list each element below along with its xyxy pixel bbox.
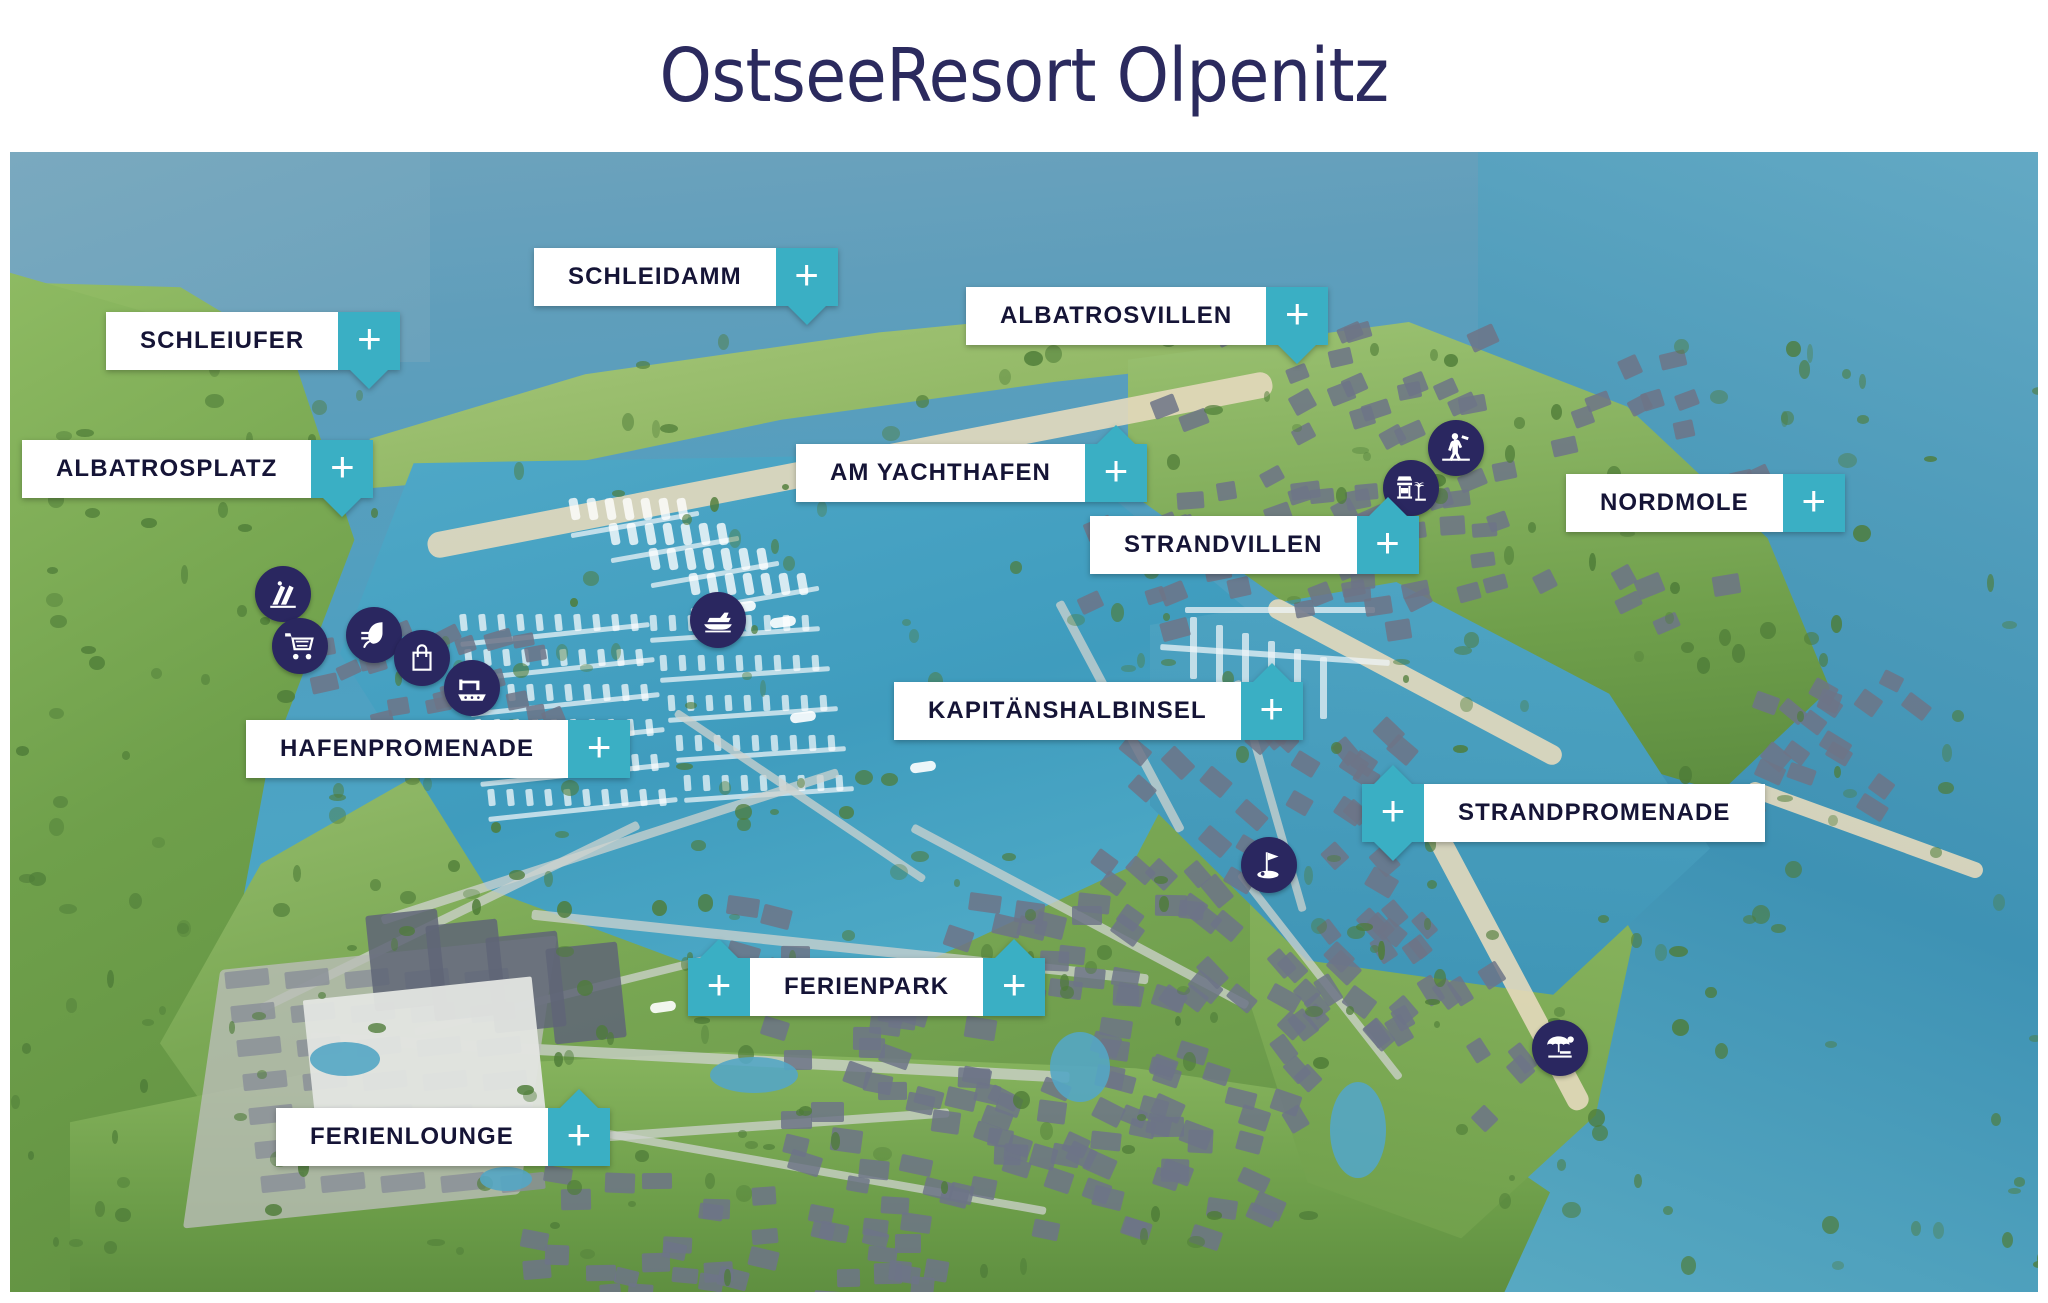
plus-icon: +	[1259, 688, 1284, 730]
plus-icon: +	[330, 446, 355, 488]
page-title: OstseeResort Olpenitz	[659, 33, 1388, 119]
hotspot-label-am-yachthafen: AM YACHTHAFEN	[796, 444, 1085, 502]
hotspot-label-strandvillen: STRANDVILLEN	[1090, 516, 1357, 574]
expand-button-schleiufer[interactable]: +	[338, 312, 400, 370]
water-slide-icon	[266, 577, 300, 611]
plus-icon: +	[1802, 480, 1827, 522]
expand-button-ferienlounge[interactable]: +	[548, 1108, 610, 1166]
shopping-cart-icon	[283, 629, 317, 663]
expand-button-nordmole[interactable]: +	[1783, 474, 1845, 532]
hotspot-label-albatrosvillen: ALBATROSVILLEN	[966, 287, 1266, 345]
hotspot-hafenpromenade[interactable]: HAFENPROMENADE+	[246, 720, 630, 778]
hotspot-nordmole[interactable]: NORDMOLE+	[1566, 474, 1845, 532]
expand-button-hafenpromenade[interactable]: +	[568, 720, 630, 778]
poi-marker-beach[interactable]	[1532, 1020, 1588, 1076]
plus-icon: +	[357, 318, 382, 360]
hotspot-schleiufer[interactable]: SCHLEIUFER+	[106, 312, 400, 370]
beach-umbrella-icon	[1543, 1031, 1577, 1065]
wellness-f-icon	[357, 618, 391, 652]
hotspot-am-yachthafen[interactable]: AM YACHTHAFEN+	[796, 444, 1147, 502]
expand-button-ferienpark-right[interactable]: +	[983, 958, 1045, 1016]
poi-marker-golf[interactable]	[1241, 837, 1297, 893]
poi-marker-shopping[interactable]	[394, 630, 450, 686]
hotspot-ferienlounge[interactable]: FERIENLOUNGE+	[276, 1108, 610, 1166]
stand-up-paddle-icon	[1439, 431, 1473, 465]
hotspot-label-hafenpromenade: HAFENPROMENADE	[246, 720, 568, 778]
expand-button-strandvillen[interactable]: +	[1357, 516, 1419, 574]
hotspot-ferienpark[interactable]: +FERIENPARK+	[688, 958, 1045, 1016]
plus-icon: +	[1002, 964, 1027, 1006]
hotspot-albatrosplatz[interactable]: ALBATROSPLATZ+	[22, 440, 373, 498]
map-aerial-image: SCHLEIDAMM+SCHLEIUFER+ALBATROSVILLEN+ALB…	[10, 152, 2038, 1292]
hotspot-strandvillen[interactable]: STRANDVILLEN+	[1090, 516, 1419, 574]
boat-slipway-icon	[455, 671, 489, 705]
motorboat-icon	[701, 603, 735, 637]
page-header: OstseeResort Olpenitz	[0, 0, 2048, 152]
expand-button-ferienpark-left[interactable]: +	[688, 958, 750, 1016]
hotspot-label-schleidamm: SCHLEIDAMM	[534, 248, 776, 306]
resort-map[interactable]: SCHLEIDAMM+SCHLEIUFER+ALBATROSVILLEN+ALB…	[10, 152, 2038, 1292]
hotspot-kapitaenshalbinsel[interactable]: KAPITÄNSHALBINSEL+	[894, 682, 1303, 740]
poi-marker-supermarket[interactable]	[272, 618, 328, 674]
plus-icon: +	[1381, 790, 1406, 832]
hotspot-label-ferienlounge: FERIENLOUNGE	[276, 1108, 548, 1166]
golf-flag-icon	[1252, 848, 1286, 882]
expand-button-am-yachthafen[interactable]: +	[1085, 444, 1147, 502]
poi-marker-paddleboard[interactable]	[1428, 420, 1484, 476]
expand-button-albatrosvillen[interactable]: +	[1266, 287, 1328, 345]
plus-icon: +	[587, 726, 612, 768]
hotspot-label-nordmole: NORDMOLE	[1566, 474, 1783, 532]
plus-icon: +	[1285, 293, 1310, 335]
expand-button-strandpromenade[interactable]: +	[1362, 784, 1424, 842]
plus-icon: +	[707, 964, 732, 1006]
expand-button-kapitaenshalbinsel[interactable]: +	[1241, 682, 1303, 740]
hotspot-schleidamm[interactable]: SCHLEIDAMM+	[534, 248, 838, 306]
plus-icon: +	[1375, 522, 1400, 564]
shopping-bag-icon	[405, 641, 439, 675]
poi-marker-motorboat[interactable]	[690, 592, 746, 648]
plus-icon: +	[567, 1114, 592, 1156]
hotspot-label-strandpromenade: STRANDPROMENADE	[1424, 784, 1765, 842]
plus-icon: +	[1104, 450, 1129, 492]
hotspot-label-kapitaenshalbinsel: KAPITÄNSHALBINSEL	[894, 682, 1241, 740]
plus-icon: +	[794, 254, 819, 296]
resort-map-page: OstseeResort Olpenitz SCHLEIDAMM+SCHLEIU…	[0, 0, 2048, 1303]
poi-marker-slipway[interactable]	[444, 660, 500, 716]
hotspot-label-albatrosplatz: ALBATROSPLATZ	[22, 440, 311, 498]
hotspot-label-ferienpark: FERIENPARK	[750, 958, 983, 1016]
expand-button-schleidamm[interactable]: +	[776, 248, 838, 306]
hotspot-label-schleiufer: SCHLEIUFER	[106, 312, 338, 370]
poi-marker-waterslide[interactable]	[255, 566, 311, 622]
hotspot-albatrosvillen[interactable]: ALBATROSVILLEN+	[966, 287, 1328, 345]
hotspot-strandpromenade[interactable]: STRANDPROMENADE+	[1362, 784, 1765, 842]
expand-button-albatrosplatz[interactable]: +	[311, 440, 373, 498]
